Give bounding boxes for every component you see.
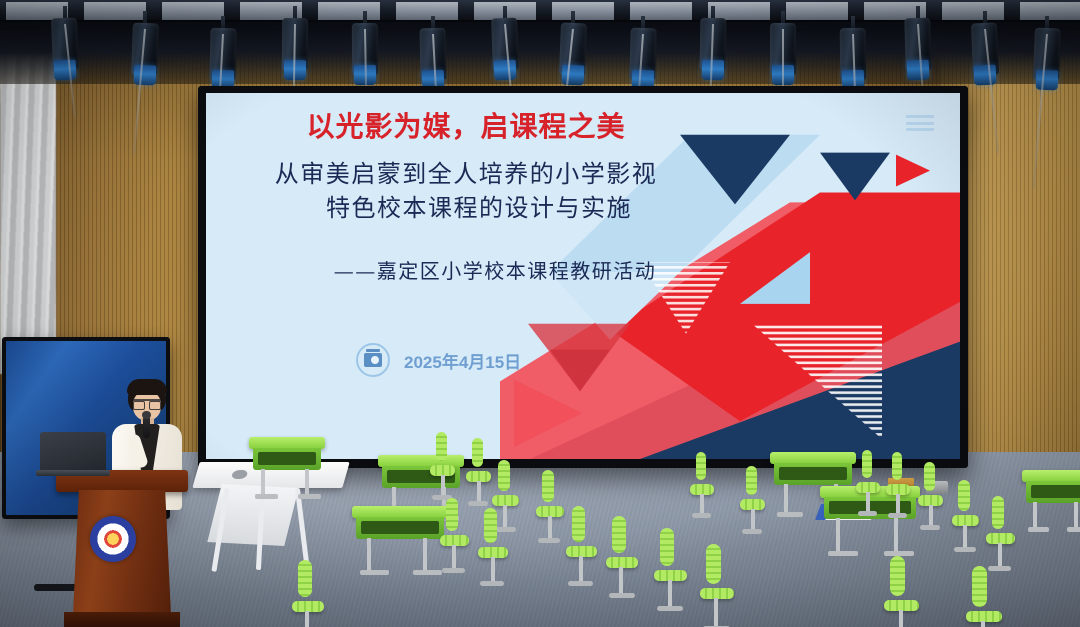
truss-panel [318, 2, 380, 20]
slide-attribution: ——嘉定区小学校本课程教研活动 [206, 255, 726, 284]
presentation-slide: 以光影为媒，启课程之美 从审美启蒙到全人培养的小学影视 特色校本课程的设计与实施… [206, 93, 960, 459]
slide-date: 2025年4月15日 [404, 348, 521, 373]
speaker-fringe [127, 379, 167, 395]
truss-panel [1020, 2, 1080, 20]
podium [64, 470, 180, 627]
slide-text-block: 以光影为媒，启课程之美 从审美启蒙到全人培养的小学影视 特色校本课程的设计与实施… [206, 111, 726, 284]
truss-panel [630, 2, 692, 20]
truss-panel [84, 2, 146, 20]
computer-mouse [231, 470, 249, 479]
school-crest-emblem [90, 516, 136, 562]
slide-title: 以光影为媒，启课程之美 [206, 111, 726, 143]
calendar-clock-icon [356, 343, 390, 377]
led-display-screen[interactable]: 以光影为媒，启课程之美 从审美启蒙到全人培养的小学影视 特色校本课程的设计与实施… [198, 86, 968, 468]
slide-subtitle-line2: 特色校本课程的设计与实施 [206, 191, 726, 225]
truss-panel [552, 2, 614, 20]
microphone-icon [143, 416, 150, 438]
slide-subtitle-line1: 从审美启蒙到全人培养的小学影视 [275, 160, 658, 188]
presentation-photo-scene: 以光影为媒，启课程之美 从审美启蒙到全人培养的小学影视 特色校本课程的设计与实施… [0, 0, 1080, 627]
laptop [36, 432, 110, 476]
folding-table [196, 462, 346, 580]
truss-panel [396, 2, 458, 20]
truss-panel [942, 2, 1004, 20]
slide-subtitle: 从审美启蒙到全人培养的小学影视 特色校本课程的设计与实施 [206, 157, 726, 225]
glasses-icon [133, 399, 161, 407]
slide-date-row: 2025年4月15日 [356, 343, 521, 377]
truss-panel [786, 2, 848, 20]
truss-panel [162, 2, 224, 20]
